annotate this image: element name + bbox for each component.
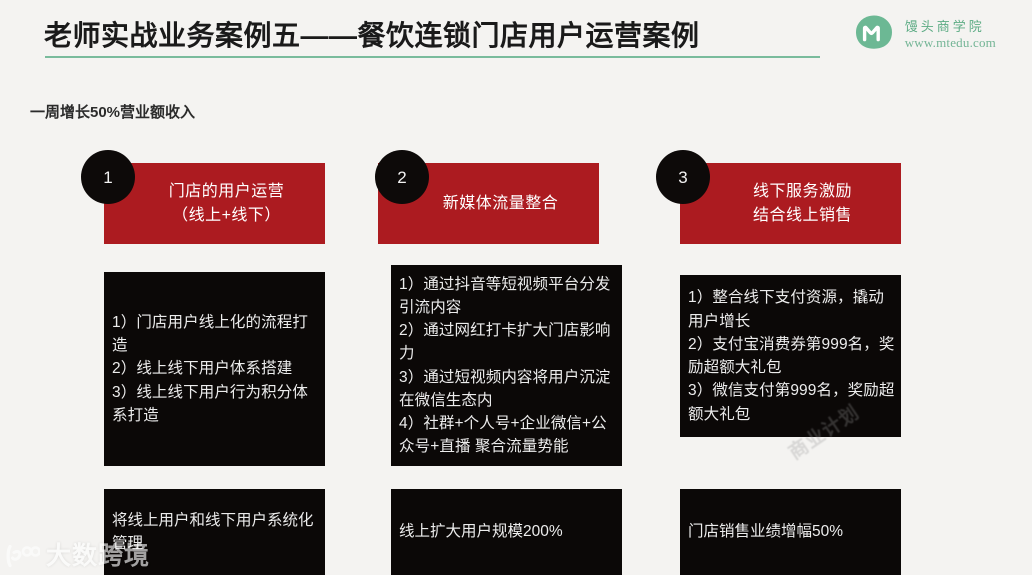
column-2-step-badge: 2: [375, 150, 429, 204]
brand-name: 馒头商学院: [905, 20, 996, 35]
column-1-header-label: 门店的用户运营 （线上+线下）: [169, 180, 285, 226]
slide-subtitle: 一周增长50%营业额收入: [30, 101, 195, 122]
column-1-header: 门店的用户运营 （线上+线下）: [104, 163, 325, 244]
slide-header: 老师实战业务案例五——餐饮连锁门店用户运营案例 馒头商学院 www.mtedu.…: [0, 0, 1032, 70]
column-3-header-label: 线下服务激励 结合线上销售: [753, 180, 852, 226]
column-3-step-number: 3: [678, 169, 687, 186]
column-3-body: 1）整合线下支付资源，撬动用户增长 2）支付宝消费券第999名，奖励超额大礼包 …: [680, 275, 901, 437]
column-3-result: 门店销售业绩增幅50%: [680, 489, 901, 575]
column-1-step-badge: 1: [81, 150, 135, 204]
column-3-step-badge: 3: [656, 150, 710, 204]
brand-logo: 馒头商学院 www.mtedu.com: [853, 14, 996, 56]
column-1-body: 1）门店用户线上化的流程打造 2）线上线下用户体系搭建 3）线上线下用户行为积分…: [104, 272, 325, 466]
slide-canvas: 老师实战业务案例五——餐饮连锁门店用户运营案例 馒头商学院 www.mtedu.…: [0, 0, 1032, 575]
column-2-result: 线上扩大用户规模200%: [391, 489, 622, 575]
column-3-header: 线下服务激励 结合线上销售: [680, 163, 901, 244]
dashukuajing-logo-icon: [6, 543, 40, 569]
column-2-body: 1）通过抖音等短视频平台分发引流内容 2）通过网红打卡扩大门店影响力 3）通过短…: [391, 265, 622, 466]
brand-url: www.mtedu.com: [905, 36, 996, 51]
mantou-m-logo-icon: [853, 14, 895, 56]
column-1-result: 将线上用户和线下用户系统化管理: [104, 489, 325, 575]
column-2-header-label: 新媒体流量整合: [443, 192, 559, 215]
column-1-step-number: 1: [103, 169, 112, 186]
brand-text: 馒头商学院 www.mtedu.com: [905, 20, 996, 51]
page-title: 老师实战业务案例五——餐饮连锁门店用户运营案例: [44, 14, 700, 54]
column-2-step-number: 2: [397, 169, 406, 186]
title-divider: [45, 56, 820, 58]
